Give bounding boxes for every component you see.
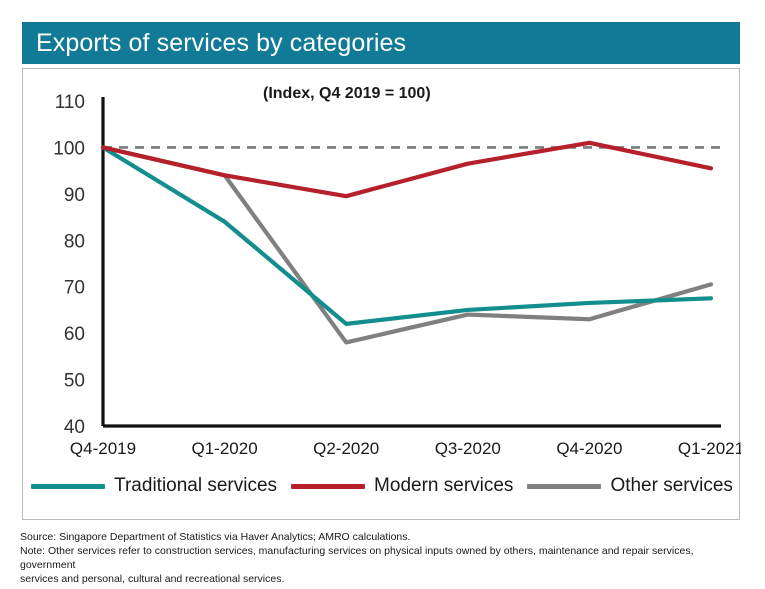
- chart-panel: (Index, Q4 2019 = 100) 40506070809010011…: [22, 68, 740, 520]
- y-tick-label: 50: [64, 371, 85, 392]
- chart-page: Exports of services by categories (Index…: [0, 0, 765, 589]
- y-tick-label: 110: [55, 92, 85, 113]
- y-tick-label: 70: [64, 278, 85, 299]
- y-tick-label: 60: [64, 324, 85, 345]
- line-chart-svg: 405060708090100110 Q4-2019Q1-2020Q2-2020…: [23, 69, 741, 521]
- x-tick-label: Q4-2019: [70, 439, 136, 458]
- page-title: Exports of services by categories: [36, 29, 406, 58]
- series-line-traditional-services: [103, 147, 711, 323]
- x-tick-label: Q1-2021: [678, 439, 741, 458]
- series-line-other-services: [103, 147, 711, 342]
- chart-title-bar: Exports of services by categories: [22, 22, 740, 64]
- footnote-note-line-1: Note: Other services refer to constructi…: [20, 545, 750, 573]
- legend-item[interactable]: Modern services: [291, 475, 513, 497]
- chart-legend: Traditional servicesModern servicesOther…: [23, 464, 741, 508]
- legend-swatch-icon: [527, 484, 601, 489]
- legend-swatch-icon: [291, 484, 365, 489]
- legend-label: Other services: [610, 475, 732, 497]
- footnote-source: Source: Singapore Department of Statisti…: [20, 531, 750, 545]
- legend-swatch-icon: [31, 484, 105, 489]
- y-tick-label: 90: [64, 185, 85, 206]
- y-axis-tick-labels: 405060708090100110: [53, 92, 85, 438]
- y-tick-label: 80: [64, 231, 85, 252]
- x-tick-label: Q4-2020: [556, 439, 622, 458]
- x-axis-tick-labels: Q4-2019Q1-2020Q2-2020Q3-2020Q4-2020Q1-20…: [70, 439, 741, 458]
- series-line-modern-services: [103, 143, 711, 196]
- y-tick-label: 40: [64, 417, 85, 438]
- chart-series-lines: [103, 143, 711, 343]
- legend-label: Modern services: [374, 475, 513, 497]
- x-tick-label: Q3-2020: [435, 439, 501, 458]
- legend-item[interactable]: Other services: [527, 475, 732, 497]
- y-tick-label: 100: [53, 138, 85, 159]
- legend-item[interactable]: Traditional services: [31, 475, 277, 497]
- x-tick-label: Q2-2020: [313, 439, 379, 458]
- chart-footnotes: Source: Singapore Department of Statisti…: [20, 531, 750, 586]
- footnote-note-line-2: services and personal, cultural and recr…: [20, 573, 750, 587]
- x-tick-label: Q1-2020: [192, 439, 258, 458]
- legend-label: Traditional services: [114, 475, 277, 497]
